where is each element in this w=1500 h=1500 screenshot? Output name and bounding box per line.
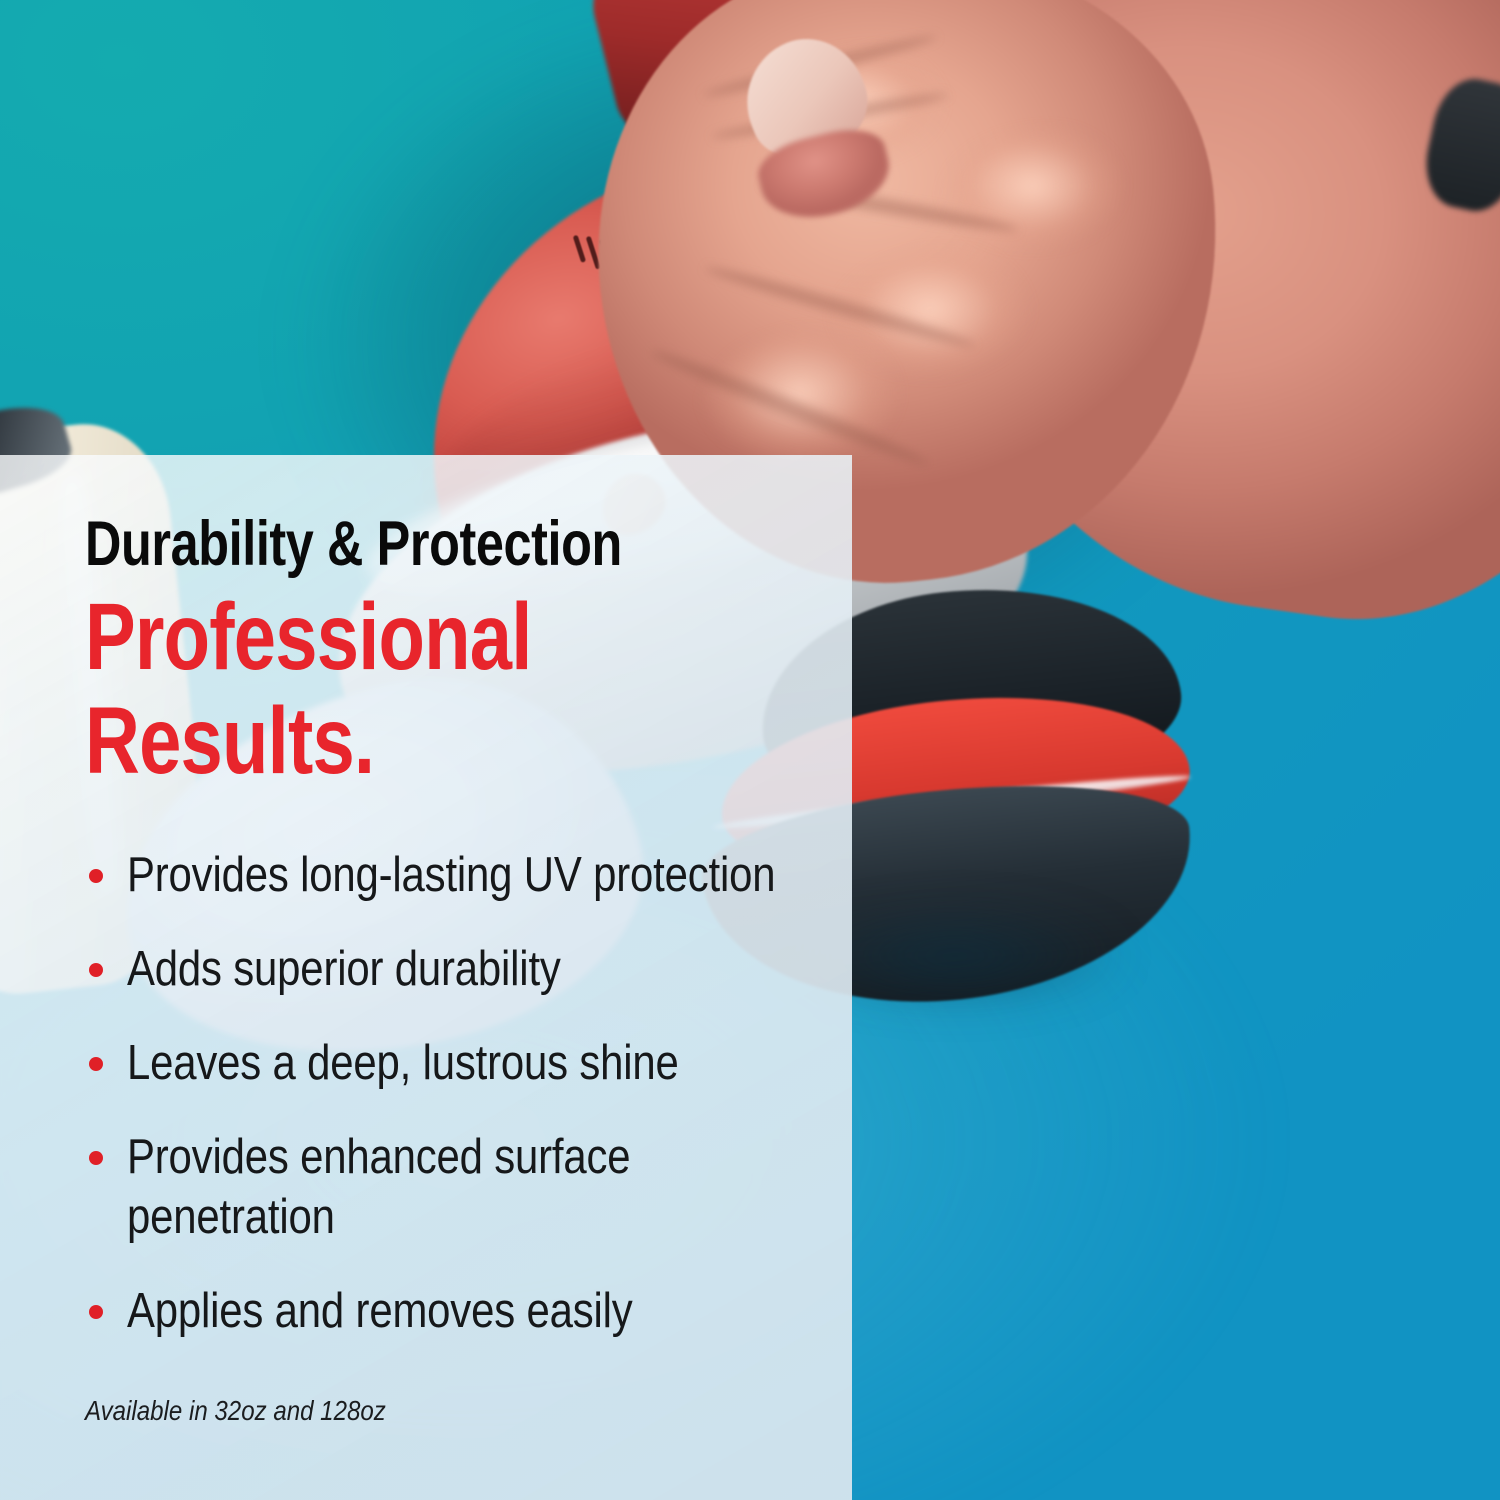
- list-item: Provides enhanced surface penetration: [85, 1127, 825, 1247]
- list-item: Applies and removes easily: [85, 1281, 825, 1341]
- bullet-dot-icon: [89, 963, 103, 977]
- headline-line-2: Results.: [85, 689, 532, 793]
- content-panel: Durability & Protection Professional Res…: [0, 455, 852, 1500]
- bullet-dot-icon: [89, 1151, 103, 1165]
- list-item-label: Adds superior durability: [127, 939, 819, 999]
- content-panel-inner: Durability & Protection Professional Res…: [85, 455, 816, 1500]
- list-item-label: Leaves a deep, lustrous shine: [127, 1033, 819, 1093]
- promo-banner: Durability & Protection Professional Res…: [0, 0, 1500, 1500]
- list-item-label: Provides enhanced surface penetration: [127, 1127, 819, 1247]
- list-item: Adds superior durability: [85, 939, 825, 999]
- feature-list: Provides long-lasting UV protection Adds…: [85, 845, 825, 1375]
- bullet-dot-icon: [89, 869, 103, 883]
- headline: Professional Results.: [85, 585, 532, 793]
- list-item: Leaves a deep, lustrous shine: [85, 1033, 825, 1093]
- headline-line-1: Professional: [85, 585, 532, 689]
- list-item: Provides long-lasting UV protection: [85, 845, 825, 905]
- list-item-label: Provides long-lasting UV protection: [127, 845, 819, 905]
- bullet-dot-icon: [89, 1305, 103, 1319]
- availability-note: Available in 32oz and 128oz: [85, 1394, 386, 1428]
- list-item-label: Applies and removes easily: [127, 1281, 819, 1341]
- bullet-dot-icon: [89, 1057, 103, 1071]
- eyebrow-heading: Durability & Protection: [85, 513, 622, 576]
